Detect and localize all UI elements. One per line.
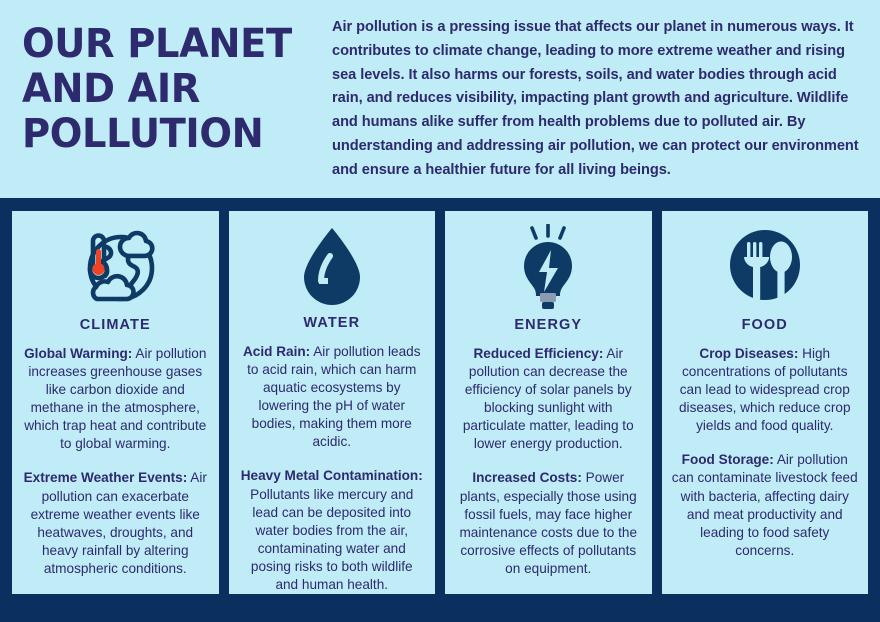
- card-label-energy: ENERGY: [514, 317, 582, 333]
- paragraph-rest: Air pollution can contaminate livestock …: [672, 452, 858, 557]
- paragraph: Extreme Weather Events: Air pollution ca…: [22, 469, 209, 577]
- paragraph-rest: Power plants, especially those using fos…: [459, 470, 637, 575]
- paragraph-rest: Air pollution increases greenhouse gases…: [24, 346, 206, 451]
- paragraph-rest: Air pollution leads to acid rain, which …: [247, 344, 420, 449]
- paragraph: Heavy Metal Contamination: Pollutants li…: [239, 467, 426, 594]
- paragraph: Acid Rain: Air pollution leads to acid r…: [239, 343, 426, 451]
- lightbulb-bolt-icon: [508, 225, 588, 311]
- paragraph-lead: Heavy Metal Contamination:: [241, 468, 423, 483]
- cards-panel: CLIMATE Global Warming: Air pollution in…: [0, 198, 880, 622]
- card-water[interactable]: WATER Acid Rain: Air pollution leads to …: [229, 211, 436, 594]
- card-body-food: Crop Diseases: High concentrations of po…: [672, 345, 859, 560]
- paragraph-lead: Extreme Weather Events:: [24, 470, 188, 485]
- infographic-root: OUR PLANET AND AIR POLLUTION Air polluti…: [0, 0, 880, 622]
- card-label-climate: CLIMATE: [80, 317, 151, 333]
- water-droplet-icon: [296, 225, 368, 309]
- card-body-energy: Reduced Efficiency: Air pollution can de…: [455, 345, 642, 578]
- card-body-climate: Global Warming: Air pollution increases …: [22, 345, 209, 578]
- paragraph: Global Warming: Air pollution increases …: [22, 345, 209, 453]
- intro-block: Air pollution is a pressing issue that a…: [322, 10, 862, 182]
- card-label-food: FOOD: [742, 317, 788, 333]
- card-energy[interactable]: ENERGY Reduced Efficiency: Air pollution…: [445, 211, 652, 594]
- card-food[interactable]: FOOD Crop Diseases: High concentrations …: [662, 211, 869, 594]
- paragraph: Increased Costs: Power plants, especiall…: [455, 469, 642, 577]
- paragraph: Reduced Efficiency: Air pollution can de…: [455, 345, 642, 453]
- paragraph-rest: Pollutants like mercury and lead can be …: [250, 487, 413, 592]
- paragraph-lead: Acid Rain:: [243, 344, 310, 359]
- page-title: OUR PLANET AND AIR POLLUTION: [22, 22, 310, 156]
- intro-paragraph: Air pollution is a pressing issue that a…: [332, 16, 862, 182]
- paragraph: Crop Diseases: High concentrations of po…: [672, 345, 859, 435]
- card-label-water: WATER: [303, 315, 360, 331]
- paragraph-lead: Food Storage:: [682, 452, 774, 467]
- card-climate[interactable]: CLIMATE Global Warming: Air pollution in…: [12, 211, 219, 594]
- card-body-water: Acid Rain: Air pollution leads to acid r…: [239, 343, 426, 594]
- paragraph-lead: Increased Costs:: [472, 470, 582, 485]
- paragraph-lead: Crop Diseases:: [699, 346, 798, 361]
- header-section: OUR PLANET AND AIR POLLUTION Air polluti…: [0, 0, 880, 198]
- paragraph: Food Storage: Air pollution can contamin…: [672, 451, 859, 559]
- title-block: OUR PLANET AND AIR POLLUTION: [22, 10, 322, 156]
- paragraph-lead: Global Warming:: [24, 346, 132, 361]
- paragraph-rest: Air pollution can decrease the efficienc…: [463, 346, 634, 451]
- paragraph-rest: Air pollution can exacerbate extreme wea…: [31, 470, 207, 575]
- paragraph-lead: Reduced Efficiency:: [473, 346, 603, 361]
- globe-thermometer-icon: [69, 225, 161, 311]
- fork-spoon-icon: [722, 225, 808, 311]
